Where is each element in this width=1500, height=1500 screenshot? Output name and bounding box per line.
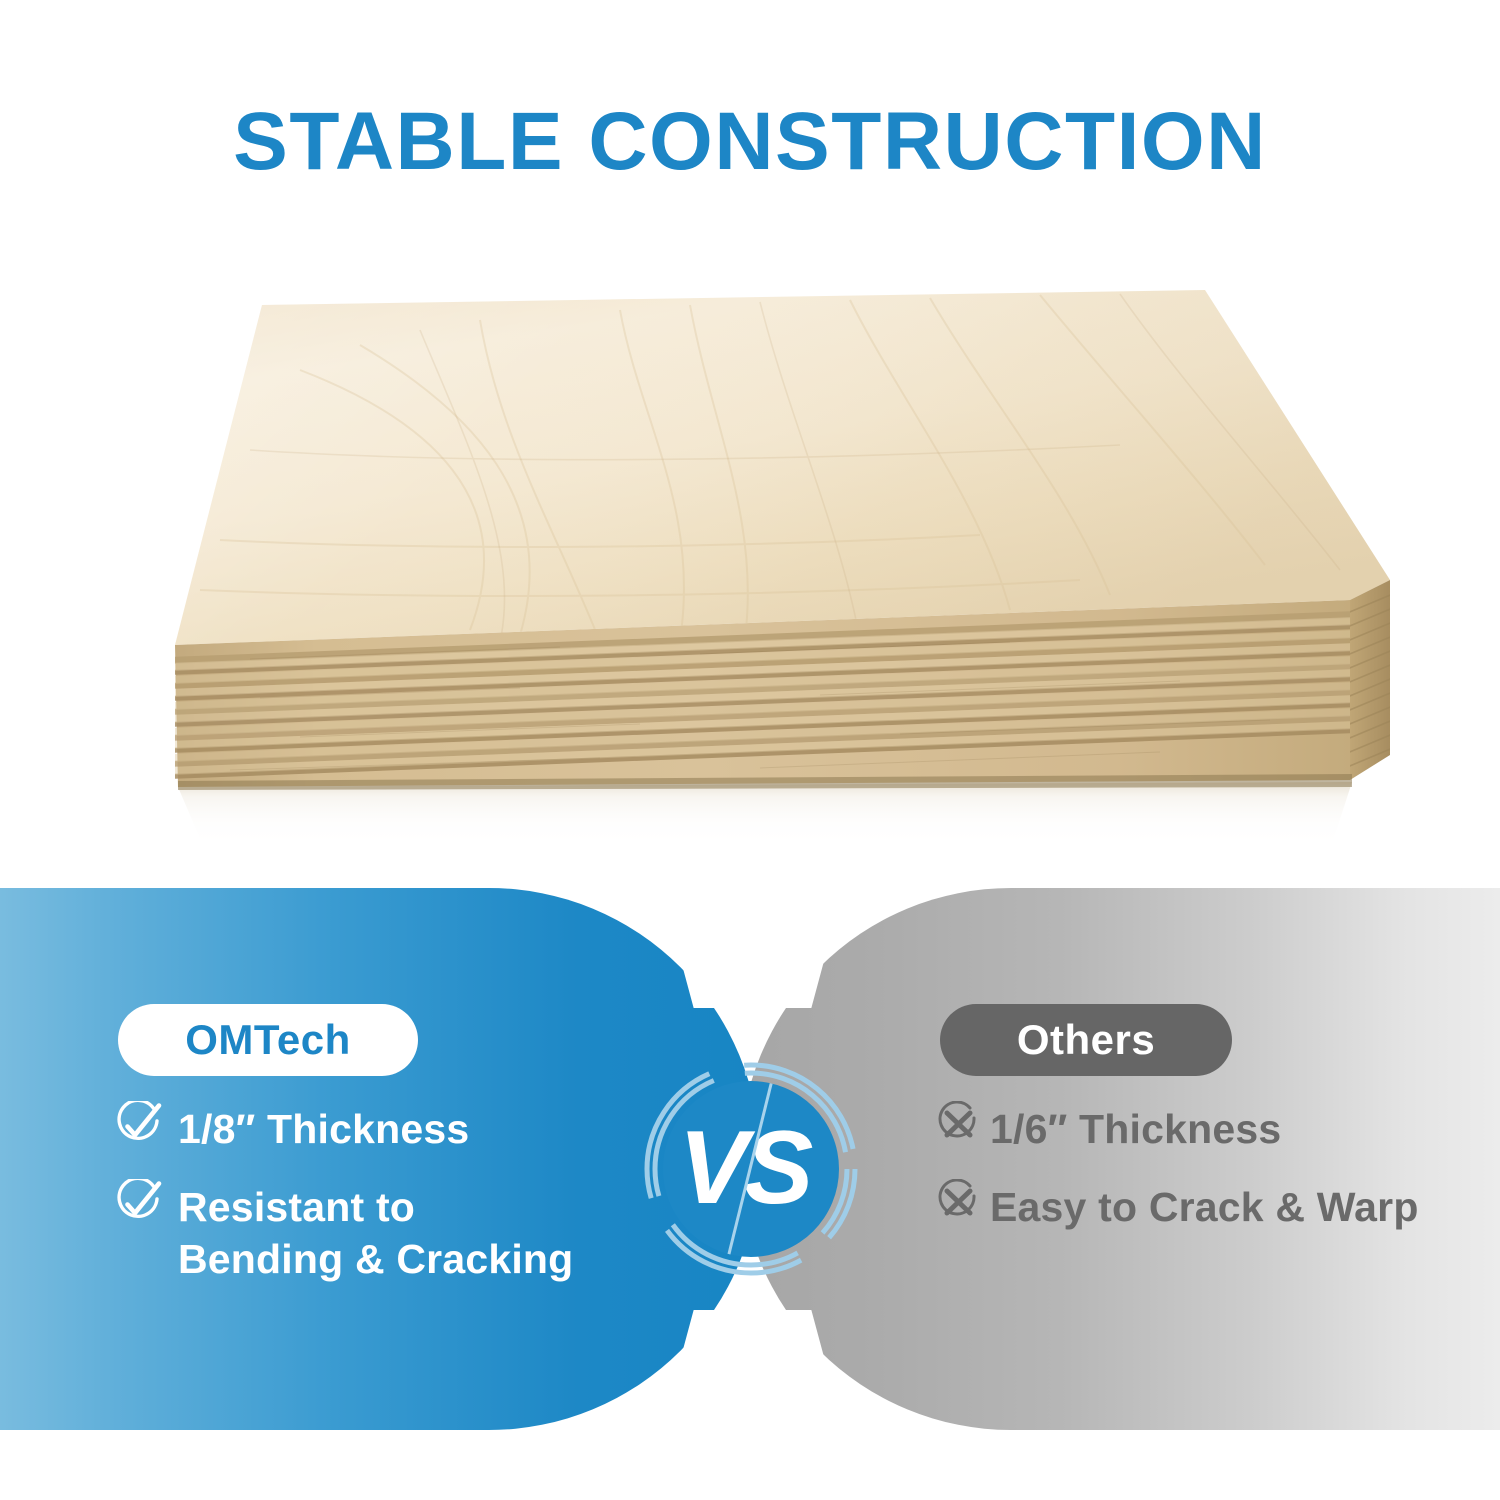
- feature-label: 1/6″ Thickness: [990, 1103, 1474, 1155]
- feature-label: 1/8″ Thickness: [178, 1103, 652, 1155]
- brand-pill-omtech[interactable]: OMTech: [118, 1004, 418, 1076]
- x-circle-icon: [934, 1179, 984, 1231]
- feature-item: 1/8″ Thickness: [112, 1103, 652, 1155]
- plywood-right-edge: [1345, 580, 1395, 780]
- surface-reflection: [178, 782, 1352, 850]
- feature-item: Resistant toBending & Cracking: [112, 1181, 652, 1285]
- page-title: STABLE CONSTRUCTION: [0, 96, 1500, 188]
- vs-badge: VS: [640, 1058, 862, 1280]
- feature-list-omtech: 1/8″ Thickness Resistant toBending & Cra…: [112, 1103, 652, 1311]
- plywood-stack-illustration: [0, 250, 1500, 870]
- feature-label: Easy to Crack & Warp: [990, 1181, 1474, 1233]
- x-circle-icon: [934, 1101, 984, 1153]
- brand-pill-others-label: Others: [1017, 1016, 1155, 1064]
- check-circle-icon: [112, 1179, 166, 1231]
- hero-product-image: [0, 250, 1500, 870]
- svg-text:VS: VS: [679, 1110, 813, 1226]
- feature-item: Easy to Crack & Warp: [934, 1181, 1474, 1233]
- feature-item: 1/6″ Thickness: [934, 1103, 1474, 1155]
- check-circle-icon: [112, 1101, 166, 1153]
- feature-label: Resistant toBending & Cracking: [178, 1181, 652, 1285]
- brand-pill-omtech-label: OMTech: [185, 1016, 351, 1064]
- feature-list-others: 1/6″ Thickness Easy to Crack & Warp: [934, 1103, 1474, 1259]
- brand-pill-others[interactable]: Others: [940, 1004, 1232, 1076]
- plywood-top-face: [175, 290, 1390, 653]
- product-feature-graphic: STABLE CONSTRUCTION: [0, 0, 1500, 1500]
